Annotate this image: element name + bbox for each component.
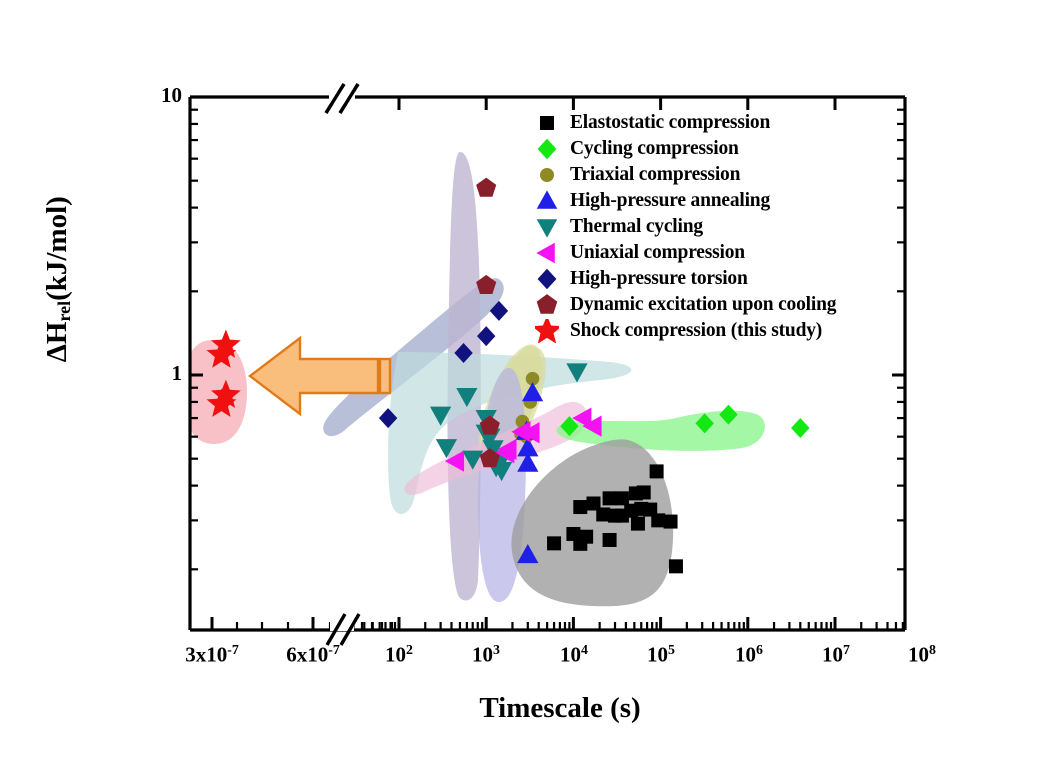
x-tick-exponent: 4 — [581, 642, 588, 657]
legend-item[interactable]: Dynamic excitation upon cooling — [524, 292, 836, 318]
x-tick-mantissa: 10 — [560, 643, 581, 667]
data-point-square — [651, 513, 665, 527]
x-tick-mantissa: 10 — [472, 643, 493, 667]
legend-glyph — [540, 116, 554, 130]
data-point-square — [573, 537, 587, 551]
x-tick-mantissa: 10 — [908, 643, 929, 667]
x-tick-label: 104 — [524, 642, 624, 668]
x-tick-mantissa: 10 — [822, 643, 843, 667]
data-point-square — [547, 536, 561, 550]
legend-label: Uniaxial compression — [570, 242, 745, 264]
x-tick-exponent: 2 — [406, 642, 413, 657]
legend-item[interactable]: Cycling compression — [524, 136, 836, 162]
x-tick-mantissa: 3x10 — [185, 643, 227, 667]
data-point-square — [603, 533, 617, 547]
data-point-diamond — [791, 418, 809, 438]
data-point-square — [664, 515, 678, 529]
legend-label: High-pressure annealing — [570, 190, 770, 212]
legend-item[interactable]: Elastostatic compression — [524, 110, 836, 136]
legend-label: Triaxial compression — [570, 164, 740, 186]
x-tick-exponent: -7 — [328, 642, 340, 657]
x-tick-label: 108 — [872, 642, 972, 668]
legend-label: Elastostatic compression — [570, 112, 770, 134]
arrow-tail-cap — [380, 359, 390, 393]
legend-marker-square-icon — [524, 111, 570, 135]
legend-glyph — [538, 269, 557, 290]
legend-item[interactable]: Uniaxial compression — [524, 240, 836, 266]
legend-glyph — [535, 319, 559, 343]
legend-glyph — [538, 139, 557, 160]
legend-item[interactable]: High-pressure annealing — [524, 188, 836, 214]
legend-glyph — [540, 168, 554, 182]
x-tick-label: 107 — [786, 642, 886, 668]
x-tick-exponent: 6 — [756, 642, 763, 657]
x-tick-label: 3x10-7 — [162, 642, 262, 668]
x-tick-exponent: -7 — [227, 642, 239, 657]
legend-item[interactable]: High-pressure torsion — [524, 266, 836, 292]
x-tick-mantissa: 6x10 — [286, 643, 328, 667]
y-tick-label: 1 — [128, 361, 182, 386]
hull-elasto — [511, 439, 673, 606]
x-tick-mantissa: 10 — [385, 643, 406, 667]
x-tick-label: 106 — [699, 642, 799, 668]
x-tick-label: 6x10-7 — [263, 642, 363, 668]
legend-marker-triangle-down-icon — [524, 215, 570, 239]
data-point-square — [573, 500, 587, 514]
x-tick-label: 102 — [349, 642, 449, 668]
x-tick-exponent: 3 — [493, 642, 500, 657]
legend-label: Cycling compression — [570, 138, 739, 160]
legend: Elastostatic compressionCycling compress… — [524, 110, 836, 344]
legend-marker-star-icon — [524, 319, 570, 343]
legend-label: Dynamic excitation upon cooling — [570, 294, 836, 316]
x-tick-exponent: 5 — [668, 642, 675, 657]
legend-marker-circle-icon — [524, 163, 570, 187]
x-tick-exponent: 8 — [929, 642, 936, 657]
legend-marker-triangle-left-icon — [524, 241, 570, 265]
legend-glyph — [537, 190, 558, 208]
y-tick-label: 10 — [128, 83, 182, 108]
data-point-square — [637, 485, 651, 499]
data-point-square — [650, 464, 664, 478]
legend-glyph — [536, 243, 554, 264]
legend-glyph — [537, 294, 558, 314]
x-tick-mantissa: 10 — [647, 643, 668, 667]
legend-label: High-pressure torsion — [570, 268, 748, 290]
legend-marker-triangle-up-icon — [524, 189, 570, 213]
data-point-square — [631, 517, 645, 531]
legend-item[interactable]: Thermal cycling — [524, 214, 836, 240]
data-point-square — [615, 491, 629, 505]
x-tick-label: 103 — [436, 642, 536, 668]
x-tick-label: 105 — [611, 642, 711, 668]
legend-label: Shock compression (this study) — [570, 320, 822, 342]
data-point-pentagon — [476, 178, 496, 197]
figure-canvas: ΔHrel(kJ/mol) Timescale (s) — [0, 0, 1064, 763]
legend-marker-diamond-icon — [524, 267, 570, 291]
legend-item[interactable]: Triaxial compression — [524, 162, 836, 188]
legend-glyph — [537, 219, 558, 237]
legend-item[interactable]: Shock compression (this study) — [524, 318, 836, 344]
x-tick-mantissa: 10 — [735, 643, 756, 667]
legend-marker-diamond-icon — [524, 137, 570, 161]
data-point-square — [669, 559, 683, 573]
x-tick-exponent: 7 — [843, 642, 850, 657]
data-point-square — [603, 491, 617, 505]
legend-marker-pentagon-icon — [524, 293, 570, 317]
legend-label: Thermal cycling — [570, 216, 703, 238]
